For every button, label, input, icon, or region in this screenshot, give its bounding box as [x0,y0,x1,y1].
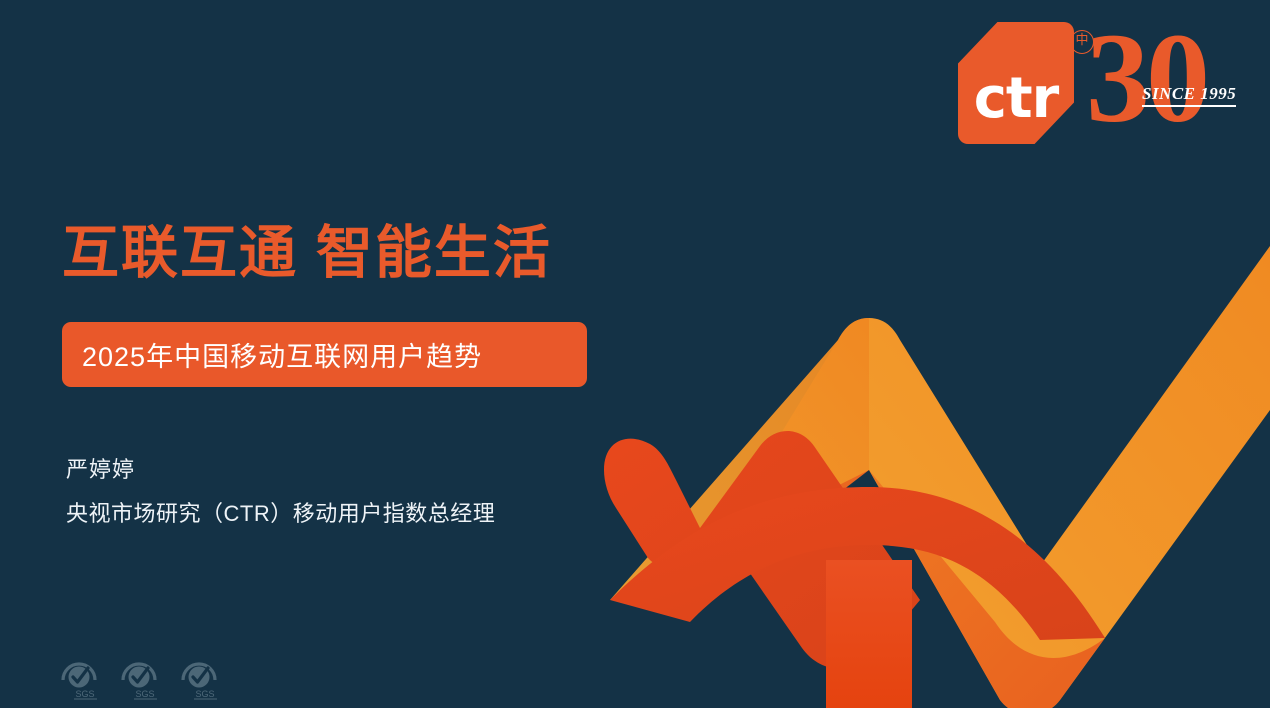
sgs-badge-icon: SGS [177,650,221,700]
ctr-logo-wordmark: ctr [958,71,1074,127]
ctr-logo: ctr 中 [958,22,1074,144]
sgs-badge-icon: SGS [117,650,161,700]
svg-text:SGS: SGS [75,689,94,699]
anniversary-badge: 30 SINCE 1995 [1086,22,1238,150]
page-title: 互联互通 智能生活 [62,222,552,285]
sgs-badge-icon: SGS [57,650,101,700]
svg-text:SGS: SGS [195,689,214,699]
since-label: SINCE 1995 [1142,84,1236,107]
subtitle-banner: 2025年中国移动互联网用户趋势 [62,322,587,387]
subtitle-text: 2025年中国移动互联网用户趋势 [62,335,482,374]
presenter-name: 严婷婷 [66,452,495,484]
certification-badges: SGS SGS SGS [57,650,221,700]
brand-logo-cluster: ctr 中 30 SINCE 1995 [958,22,1238,150]
title-slide: ctr 中 30 SINCE 1995 互联互通 智能生活 2025年中国移动互… [0,0,1270,708]
svg-text:SGS: SGS [135,689,154,699]
presenter-role: 央视市场研究（CTR）移动用户指数总经理 [66,496,495,528]
anniversary-number: 30 [1086,14,1206,142]
presenter-block: 严婷婷 央视市场研究（CTR）移动用户指数总经理 [66,452,495,528]
